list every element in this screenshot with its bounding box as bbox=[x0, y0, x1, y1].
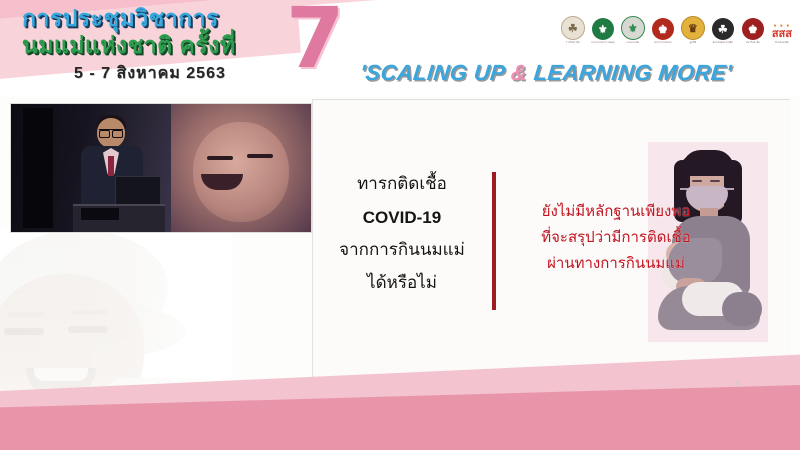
thaihealth-sub-text: ThaiHealth bbox=[775, 40, 790, 44]
projected-baby-eye-right bbox=[247, 154, 273, 158]
logo-royal-seal-icon: ☘ bbox=[561, 16, 585, 40]
conference-tagline: 'SCALING UP & LEARNING MORE' bbox=[359, 60, 733, 86]
logo-caption: กระทรวงสาธารณสุข bbox=[590, 41, 616, 44]
logo-gold-emblem-icon: ♛ bbox=[681, 16, 705, 40]
logo-caption: มูลนิธิ bbox=[680, 41, 706, 44]
podium-shadow bbox=[81, 208, 119, 220]
tagline-suffix: LEARNING MORE' bbox=[526, 60, 733, 85]
slide-screenshot: 7 การประชุมวิชาการ นมแม่แห่งชาติ ครั้งที… bbox=[0, 0, 800, 450]
question-line-3: จากการกินนมแม่ bbox=[322, 234, 482, 267]
mother-eye-right bbox=[710, 180, 720, 182]
logo-thaihealth: ● ● ● สสส ThaiHealth bbox=[772, 24, 792, 44]
question-line-1: ทารกติดเชื้อ bbox=[322, 168, 482, 201]
slide-answer-text: ยังไม่มีหลักฐานเพียงพอ ที่จะสรุปว่ามีการ… bbox=[500, 198, 732, 276]
mother-eye-left bbox=[692, 180, 702, 182]
logo-maroon-emblem: ♚ มหาวิทยาลัย bbox=[740, 18, 766, 44]
conference-title-line1: การประชุมวิชาการ bbox=[22, 4, 236, 32]
logo-caption: ราชวิทยาลัย bbox=[560, 41, 586, 44]
logo-caption: สภากาชาดไทย bbox=[650, 41, 676, 44]
answer-line-1: ยังไม่มีหลักฐานเพียงพอ bbox=[500, 198, 732, 224]
slide-question-text: ทารกติดเชื้อ COVID-19 จากการกินนมแม่ ได้… bbox=[322, 168, 482, 300]
question-line-2: COVID-19 bbox=[322, 201, 482, 234]
video-projection-screen bbox=[171, 104, 311, 232]
answer-line-2: ที่จะสรุปว่ามีการติดเชื้อ bbox=[500, 224, 732, 250]
logo-caption: สถาบันสุขภาพเด็ก bbox=[710, 41, 736, 44]
thaihealth-main-text: สสส bbox=[772, 29, 792, 40]
conference-date: 5 - 7 สิงหาคม 2563 bbox=[74, 61, 236, 86]
logo-maroon-emblem-icon: ♚ bbox=[742, 18, 764, 40]
speaker-video-thumbnail[interactable] bbox=[10, 103, 312, 233]
slide-number: 6 bbox=[736, 379, 740, 388]
logo-caption: มหาวิทยาลัย bbox=[740, 41, 766, 44]
sponsor-logos-row: ☘ ราชวิทยาลัย ⚜ กระทรวงสาธารณสุข ⚜ กรมอน… bbox=[560, 16, 792, 44]
projected-baby-eye-left bbox=[207, 156, 233, 160]
conference-title-block: การประชุมวิชาการ นมแม่แห่งชาติ ครั้งที่ … bbox=[22, 4, 236, 86]
conference-header-banner: 7 การประชุมวิชาการ นมแม่แห่งชาติ ครั้งที… bbox=[0, 0, 800, 96]
edition-number: 7 bbox=[286, 0, 344, 80]
logo-royal-seal: ☘ ราชวิทยาลัย bbox=[560, 16, 586, 44]
mother-leg bbox=[722, 292, 762, 326]
question-line-4: ได้หรือไม่ bbox=[322, 267, 482, 300]
logo-red-emblem: ♚ สภากาชาดไทย bbox=[650, 18, 676, 44]
tagline-prefix: 'SCALING UP bbox=[359, 60, 513, 85]
speaker-tie bbox=[108, 156, 114, 176]
logo-red-emblem-icon: ♚ bbox=[652, 18, 674, 40]
logo-black-emblem-icon: ☘ bbox=[712, 18, 734, 40]
video-wall-panel bbox=[23, 108, 53, 228]
speaker-glasses-icon bbox=[99, 129, 123, 136]
conference-title-line2: นมแม่แห่งชาติ ครั้งที่ bbox=[22, 31, 236, 59]
logo-department-health: ⚜ กรมอนามัย bbox=[620, 16, 646, 44]
logo-ministry-public-health-icon: ⚜ bbox=[592, 18, 614, 40]
slide-top-divider bbox=[312, 99, 790, 100]
logo-black-emblem: ☘ สถาบันสุขภาพเด็ก bbox=[710, 18, 736, 44]
logo-department-health-icon: ⚜ bbox=[621, 16, 645, 40]
slide-vertical-divider bbox=[492, 172, 496, 310]
logo-ministry-public-health: ⚜ กระทรวงสาธารณสุข bbox=[590, 18, 616, 44]
logo-caption: กรมอนามัย bbox=[620, 41, 646, 44]
answer-line-3: ผ่านทางการกินนมแม่ bbox=[500, 250, 732, 276]
logo-gold-emblem: ♛ มูลนิธิ bbox=[680, 16, 706, 44]
projected-baby-face bbox=[193, 122, 289, 222]
